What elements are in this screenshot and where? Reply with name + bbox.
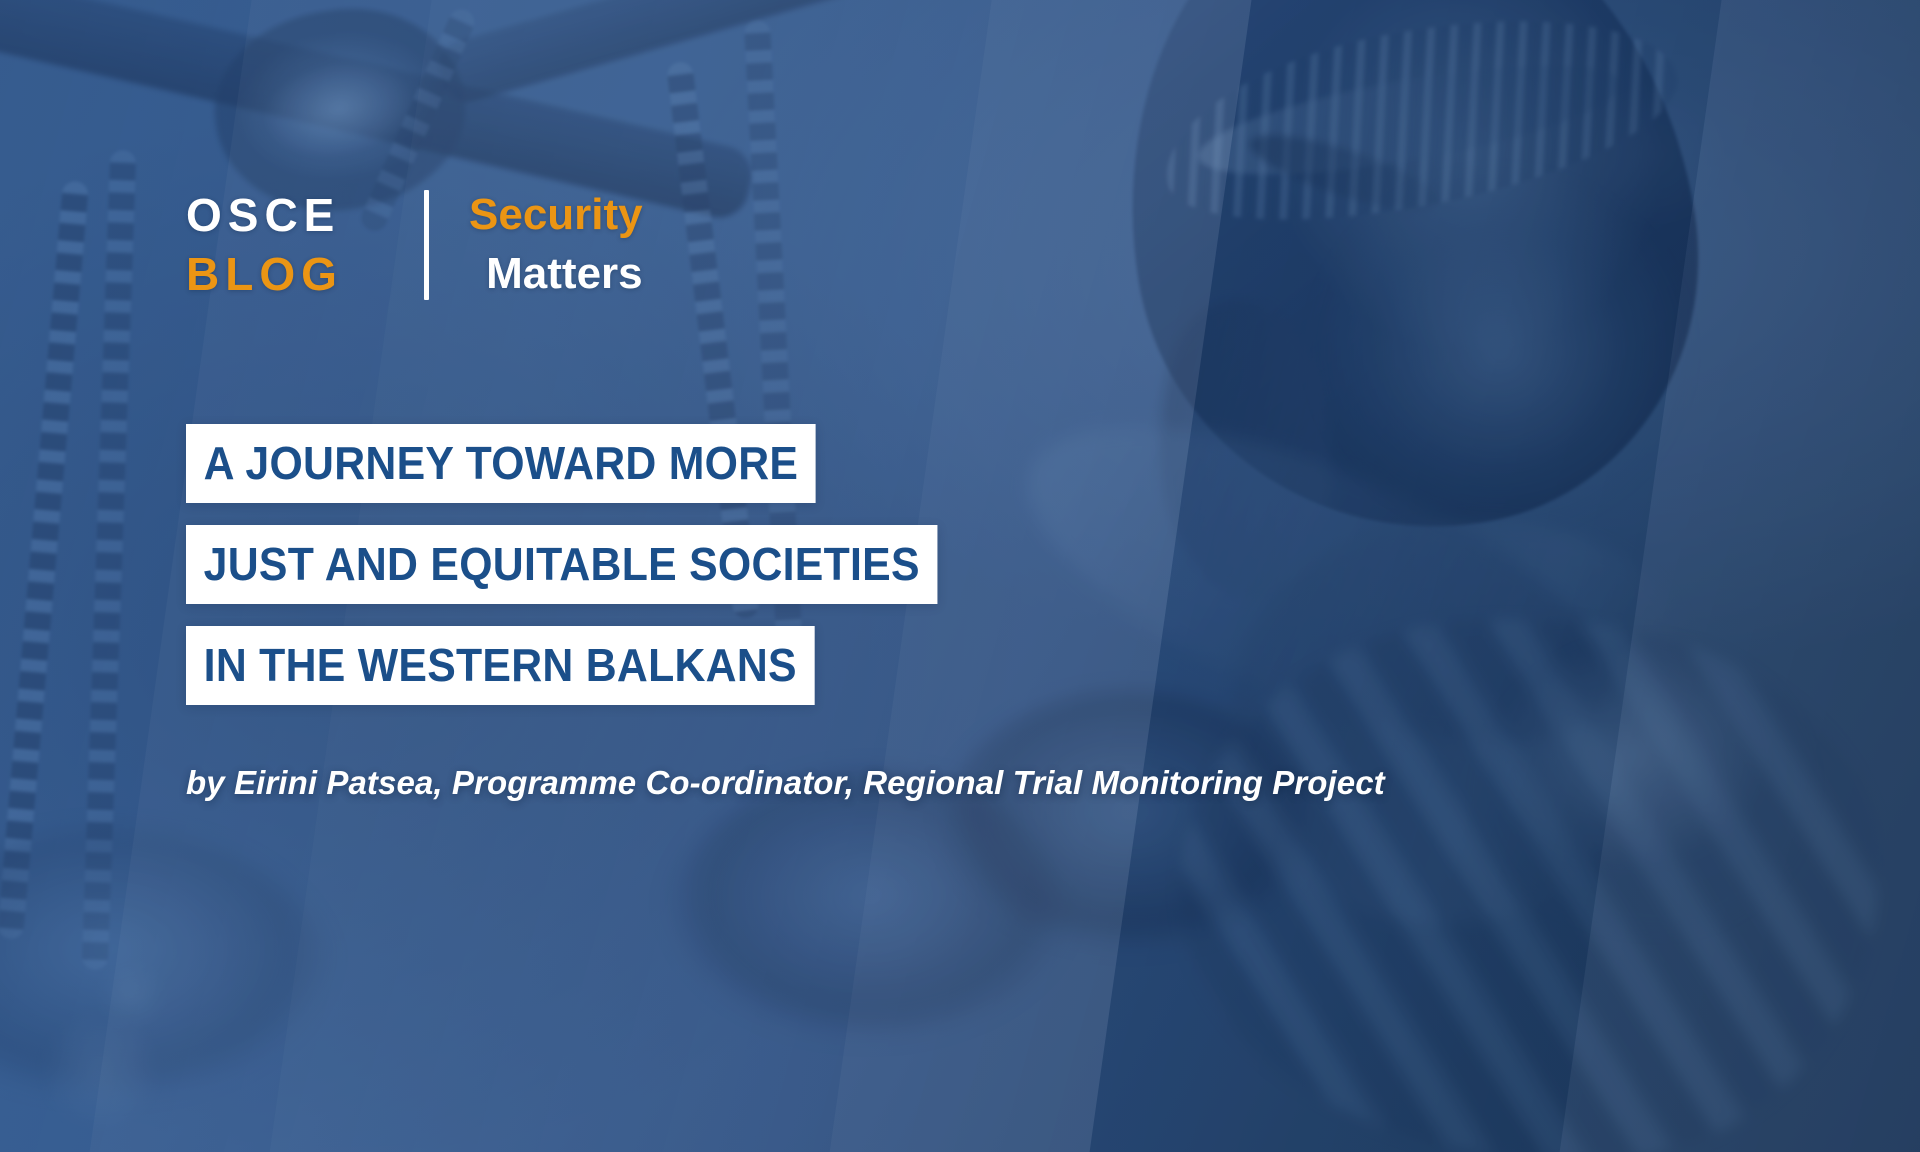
logo-tagline-matters: Matters xyxy=(469,245,643,304)
osce-blog-logo[interactable]: OSCE BLOG Security Matters xyxy=(186,186,643,304)
headline-line-3: IN THE WESTERN BALKANS xyxy=(186,626,815,705)
logo-tagline-security: Security xyxy=(469,186,643,245)
headline-line-2: JUST AND EQUITABLE SOCIETIES xyxy=(186,525,937,604)
banner-content: OSCE BLOG Security Matters A JOURNEY TOW… xyxy=(0,0,1920,1152)
logo-tagline: Security Matters xyxy=(469,186,643,304)
vertical-divider-icon xyxy=(424,190,429,300)
headline-line-1: A JOURNEY TOWARD MORE xyxy=(186,424,816,503)
logo-blog-text: BLOG xyxy=(186,245,343,304)
byline: by Eirini Patsea, Programme Co-ordinator… xyxy=(186,764,1385,802)
blog-banner: OSCE BLOG Security Matters A JOURNEY TOW… xyxy=(0,0,1920,1152)
page-title: A JOURNEY TOWARD MORE JUST AND EQUITABLE… xyxy=(186,424,994,705)
logo-osce-text: OSCE xyxy=(186,186,340,245)
logo-wordmark: OSCE BLOG xyxy=(186,186,386,304)
